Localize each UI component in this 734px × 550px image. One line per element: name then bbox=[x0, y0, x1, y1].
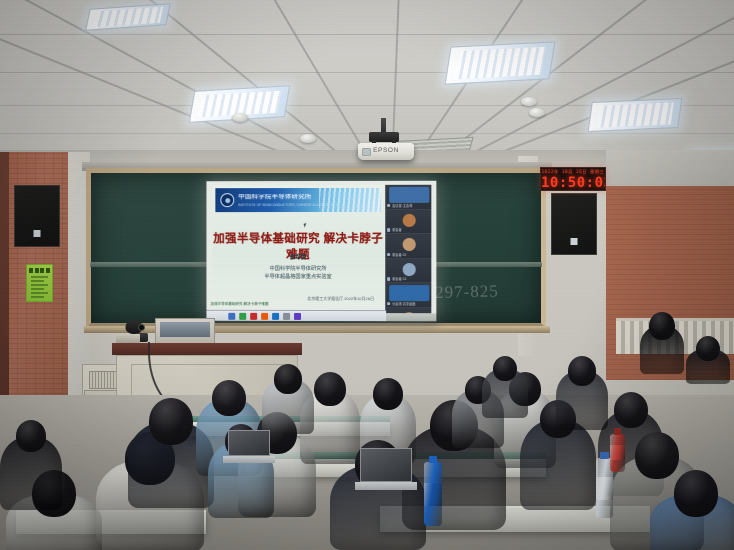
red-bottle bbox=[610, 428, 625, 472]
bottle-label bbox=[610, 445, 625, 460]
bottle-label bbox=[424, 483, 442, 507]
bottle-cap bbox=[600, 452, 608, 459]
bottle-label bbox=[596, 477, 613, 499]
bottle-cap bbox=[614, 428, 621, 435]
laptop-left-keyboard[interactable] bbox=[223, 456, 275, 463]
laptop-center-keyboard[interactable] bbox=[355, 482, 417, 490]
laptop-left-screen[interactable] bbox=[228, 430, 270, 456]
lecture-hall-scene: 930-297-825 中国科学院半导体研究所 INSTITUTE OF SEM… bbox=[0, 0, 734, 550]
laptop-center-screen[interactable] bbox=[360, 448, 412, 482]
desk-objects bbox=[0, 0, 734, 550]
pepsi-bottle bbox=[424, 456, 442, 526]
bottle-cap bbox=[429, 456, 438, 463]
